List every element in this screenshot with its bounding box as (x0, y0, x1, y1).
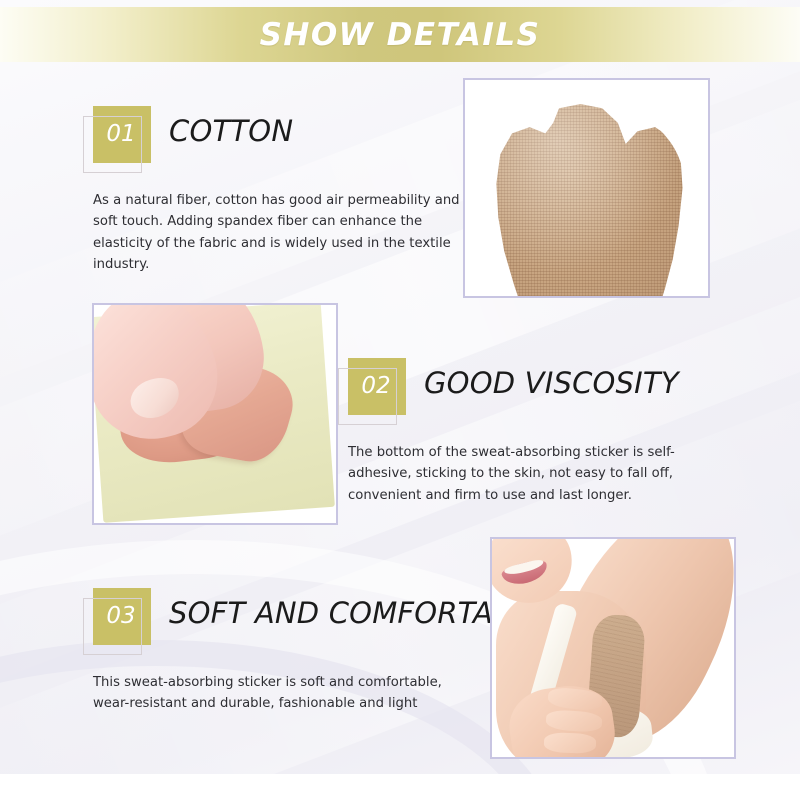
photo-underarm-application (490, 537, 736, 759)
photo-cotton-pad-fabric-closeup (463, 78, 710, 298)
finger (544, 732, 597, 754)
section-body-text: As a natural fiber, cotton has good air … (93, 190, 465, 276)
section-cotton: 01 COTTON As a natural fiber, cotton has… (93, 106, 473, 276)
badge-outline-square (83, 116, 142, 173)
section-title: COTTON (169, 114, 293, 148)
background-bottom-band (0, 774, 800, 800)
section-body-text: The bottom of the sweat-absorbing sticke… (348, 442, 714, 506)
section-soft-and-comfortable: 03 SOFT AND COMFORTABLE This sweat-absor… (93, 588, 493, 715)
section-good-viscosity: 02 GOOD VISCOSITY The bottom of the swea… (348, 358, 718, 506)
section-header: 01 COTTON (93, 106, 473, 174)
badge-outline-square (338, 368, 397, 425)
badge-outline-square (83, 598, 142, 655)
page-title: SHOW DETAILS (260, 17, 541, 53)
header-banner: SHOW DETAILS (0, 7, 800, 62)
section-title: GOOD VISCOSITY (424, 366, 679, 400)
photo-peeling-sticker-from-backing (92, 303, 338, 525)
section-header: 03 SOFT AND COMFORTABLE (93, 588, 493, 656)
sweat-pad-shape (489, 104, 685, 298)
section-header: 02 GOOD VISCOSITY (348, 358, 718, 426)
section-body-text: This sweat-absorbing sticker is soft and… (93, 672, 463, 715)
product-details-page: SHOW DETAILS 01 COTTON As a natural fibe… (0, 0, 800, 800)
